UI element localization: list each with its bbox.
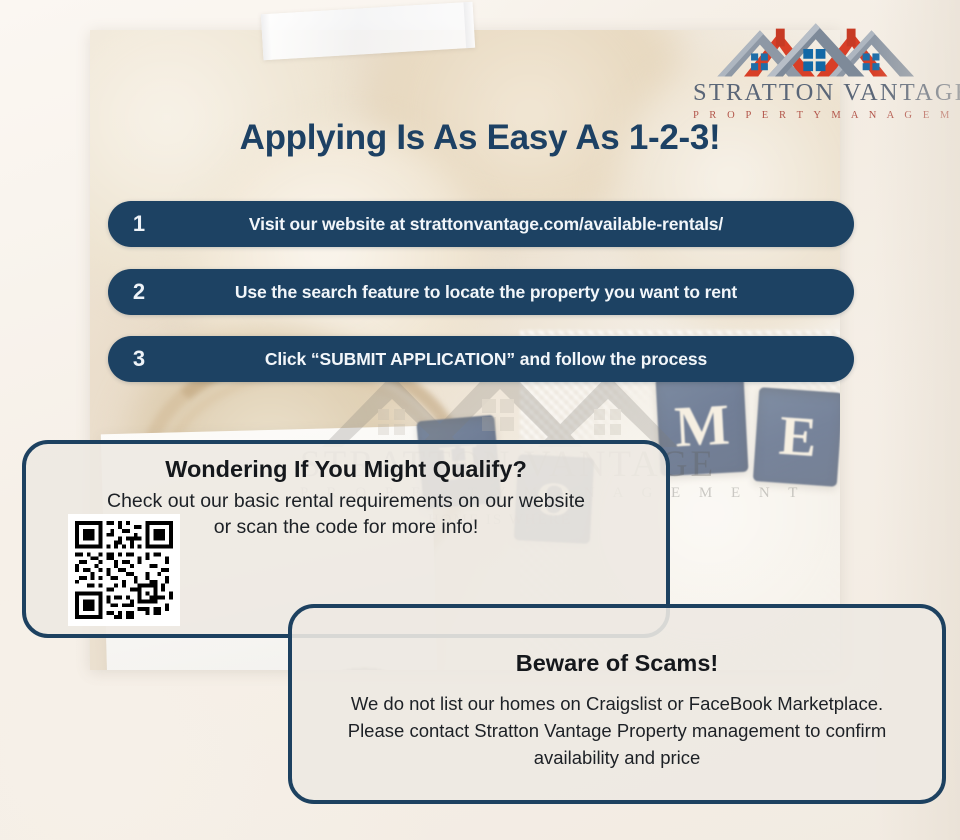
step-2-text: Use the search feature to locate the pro… — [170, 282, 854, 303]
qr-code-icon[interactable] — [68, 514, 180, 626]
step-1-text: Visit our website at strattonvantage.com… — [170, 214, 854, 235]
scams-card-title: Beware of Scams! — [292, 650, 942, 677]
step-2-number: 2 — [108, 279, 170, 305]
step-2-pill[interactable]: 2 Use the search feature to locate the p… — [108, 269, 854, 315]
scams-card-line-1: We do not list our homes on Craigslist o… — [292, 691, 942, 718]
step-3-text: Click “SUBMIT APPLICATION” and follow th… — [170, 349, 854, 370]
brand-name: STRATTON VANTAGE — [693, 80, 938, 106]
step-3-number: 3 — [108, 346, 170, 372]
scams-card: Beware of Scams! We do not list our home… — [288, 604, 946, 804]
step-1-pill[interactable]: 1 Visit our website at strattonvantage.c… — [108, 201, 854, 247]
scams-card-line-2: Please contact Stratton Vantage Property… — [292, 718, 942, 745]
step-3-pill[interactable]: 3 Click “SUBMIT APPLICATION” and follow … — [108, 336, 854, 382]
brand-logo: STRATTON VANTAGE P R O P E R T Y M A N A… — [693, 18, 938, 121]
step-1-number: 1 — [108, 211, 170, 237]
qr-code-matrix — [75, 521, 173, 619]
three-roofs-icon — [705, 18, 926, 80]
qualify-card-title: Wondering If You Might Qualify? — [26, 456, 666, 483]
poster-canvas: H O M E — [0, 0, 960, 840]
page-title: Applying Is As Easy As 1-2-3! — [0, 118, 960, 158]
scams-card-body: We do not list our homes on Craigslist o… — [292, 691, 942, 771]
qualify-card-line-1: Check out our basic rental requirements … — [26, 489, 666, 515]
scams-card-line-3: availability and price — [292, 745, 942, 772]
